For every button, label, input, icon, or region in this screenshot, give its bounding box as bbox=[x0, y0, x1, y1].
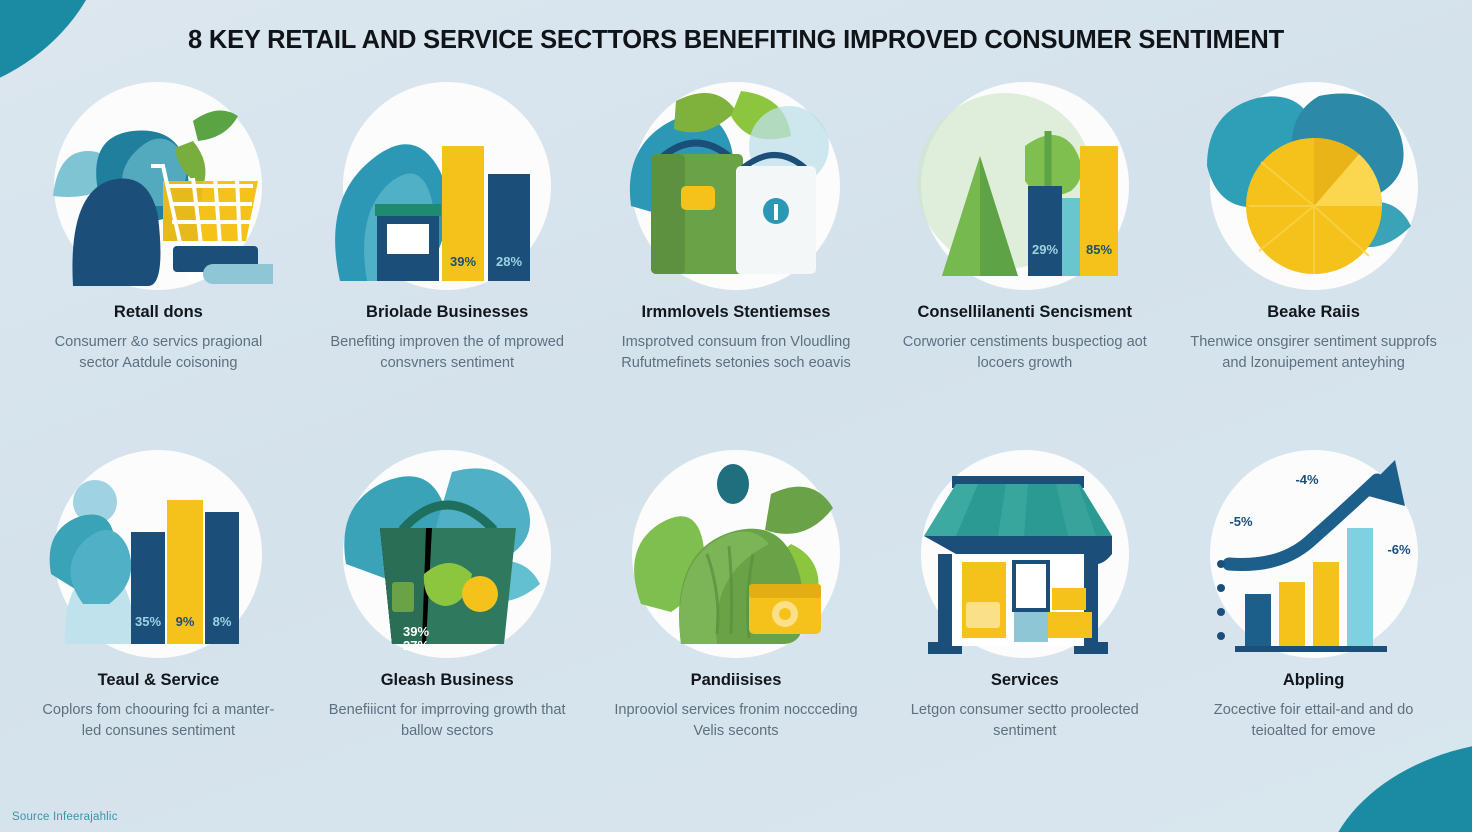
card-body: Zocective foir ettail-and and do teioalt… bbox=[1189, 700, 1439, 743]
bar-label: 27% bbox=[403, 638, 429, 653]
card-body: Benefiiicnt for imprroving growth that b… bbox=[322, 700, 572, 743]
illustration: -5% -4% -6% bbox=[1194, 446, 1434, 661]
bar-label: 28% bbox=[496, 254, 522, 269]
sector-card-grid: Retall dons Consumerr &o servics pragion… bbox=[18, 78, 1454, 814]
card-title: Pandiisises bbox=[691, 671, 782, 691]
card-body: Consumerr &o servics pragional sector Aa… bbox=[33, 332, 283, 375]
card-body: Thenwice onsgirer sentiment supprofs and… bbox=[1189, 332, 1439, 375]
illustration: 39% 27% bbox=[327, 446, 567, 661]
storefront-awning-icon bbox=[910, 454, 1140, 654]
sector-card: Beake Raiis Thenwice onsgirer sentiment … bbox=[1173, 78, 1454, 446]
source-label: Source Infeerajahlic bbox=[12, 811, 118, 823]
illustration: 39% 28% bbox=[327, 78, 567, 293]
pie-chart-leaves-icon bbox=[1199, 86, 1429, 286]
bar-label: 9% bbox=[176, 614, 195, 629]
card-title: Beake Raiis bbox=[1267, 303, 1360, 323]
bar-label: 8% bbox=[213, 614, 232, 629]
card-title: Teaul & Service bbox=[98, 671, 220, 691]
sector-card: 39% 27% Gleash Business Benefiiicnt for … bbox=[307, 446, 588, 814]
illustration bbox=[905, 446, 1145, 661]
bar-label: 39% bbox=[403, 624, 429, 639]
sector-card: Pandiisises Inprooviol services fronim n… bbox=[596, 446, 877, 814]
bar-label: 29% bbox=[1032, 242, 1058, 257]
bar-chart-person-icon: 35% 9% 8% bbox=[43, 454, 273, 654]
illustration bbox=[616, 78, 856, 293]
infographic-page: 8 KEY RETAIL AND SERVICE SECTTORS BENEFI… bbox=[0, 0, 1472, 832]
card-title: Briolade Businesses bbox=[366, 303, 528, 323]
sector-card: 39% 28% Briolade Businesses Benefiting i… bbox=[307, 78, 588, 446]
bar-chart-trees-icon: 29% 85% bbox=[910, 86, 1140, 286]
plant-basket-icon bbox=[621, 454, 851, 654]
sector-card: 35% 9% 8% Teaul & Service Coplors fom ch… bbox=[18, 446, 299, 814]
card-body: Imsprotved consuum fron Vloudling Rufutm… bbox=[611, 332, 861, 375]
bar-label: 35% bbox=[135, 614, 161, 629]
chart-annotation: -5% bbox=[1229, 514, 1253, 529]
illustration bbox=[1194, 78, 1434, 293]
page-title: 8 KEY RETAIL AND SERVICE SECTTORS BENEFI… bbox=[0, 26, 1472, 55]
chart-annotation: -6% bbox=[1387, 542, 1411, 557]
shopping-bags-icon bbox=[621, 86, 851, 286]
card-body: Corworier censtiments buspectiog aot loc… bbox=[900, 332, 1150, 375]
card-title: Retall dons bbox=[114, 303, 203, 323]
reusable-tote-bag-icon: 39% 27% bbox=[332, 454, 562, 654]
bar-label: 85% bbox=[1086, 242, 1112, 257]
illustration bbox=[38, 78, 278, 293]
sector-card: Irmmlovels Stentiemses Imsprotved consuu… bbox=[596, 78, 877, 446]
illustration bbox=[616, 446, 856, 661]
bar-label: 39% bbox=[450, 254, 476, 269]
sector-card: Services Letgon consumer sectto proolect… bbox=[884, 446, 1165, 814]
growth-arrow-chart-icon: -5% -4% -6% bbox=[1199, 454, 1429, 654]
card-body: Coplors fom choouring fci a manter-led c… bbox=[33, 700, 283, 743]
card-body: Inprooviol services fronim noccceding Ve… bbox=[611, 700, 861, 743]
chart-annotation: -4% bbox=[1295, 472, 1319, 487]
sector-card: Retall dons Consumerr &o servics pragion… bbox=[18, 78, 299, 446]
card-body: Benefiting improven the of mprowed consv… bbox=[322, 332, 572, 375]
card-title: Abpling bbox=[1283, 671, 1344, 691]
card-title: Services bbox=[991, 671, 1059, 691]
illustration: 29% 85% bbox=[905, 78, 1145, 293]
card-title: Irmmlovels Stentiemses bbox=[642, 303, 831, 323]
card-body: Letgon consumer sectto proolected sentim… bbox=[900, 700, 1150, 743]
bar-chart-storefront-icon: 39% 28% bbox=[332, 86, 562, 286]
illustration: 35% 9% 8% bbox=[38, 446, 278, 661]
sector-card: -5% -4% -6% Abpling Zocective foir ettai… bbox=[1173, 446, 1454, 814]
shopping-cart-groceries-icon bbox=[43, 86, 273, 286]
card-title: Gleash Business bbox=[381, 671, 514, 691]
sector-card: 29% 85% Consellilanenti Sencisment Corwo… bbox=[884, 78, 1165, 446]
card-title: Consellilanenti Sencisment bbox=[918, 303, 1133, 323]
